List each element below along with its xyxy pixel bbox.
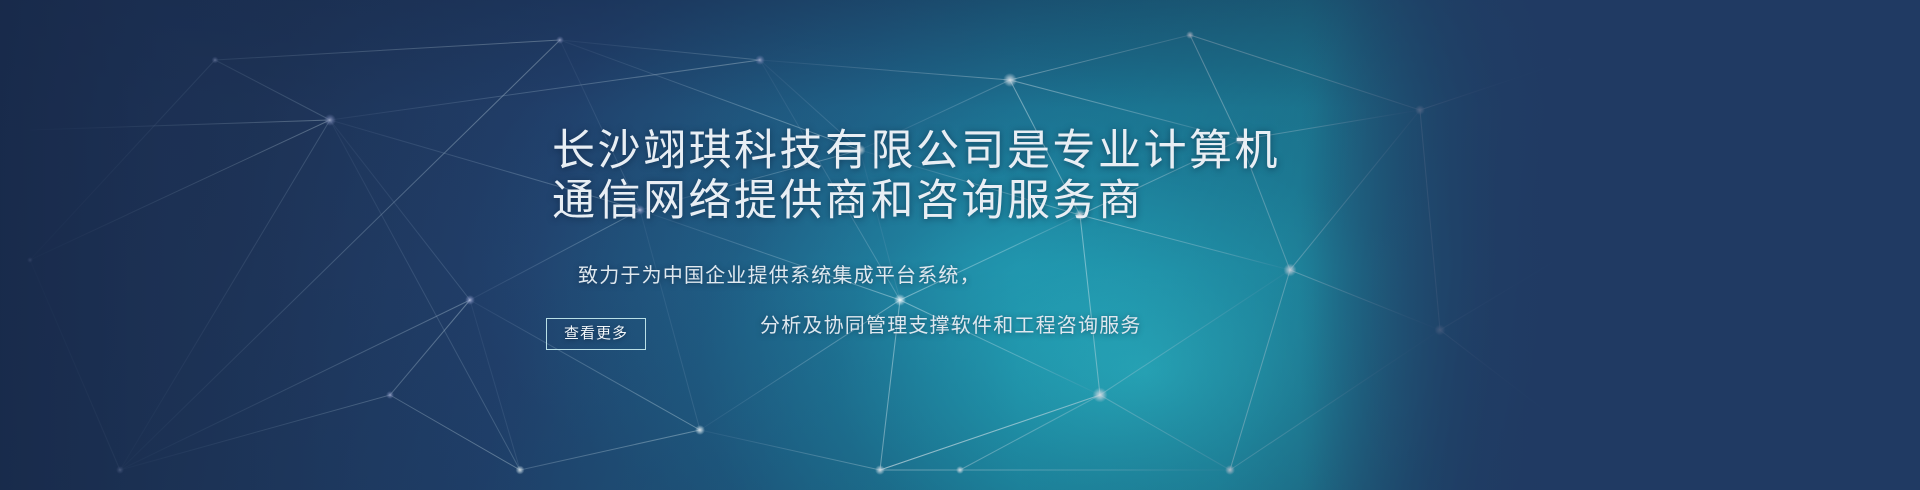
headline-line-1: 长沙翊琪科技有限公司是专业计算机 bbox=[552, 126, 1280, 176]
banner-subtitle-line-1: 致力于为中国企业提供系统集成平台系统， bbox=[578, 263, 981, 289]
banner-copy: 长沙翊琪科技有限公司是专业计算机 通信网络提供商和咨询服务商 致力于为中国企业提… bbox=[0, 0, 1920, 490]
banner-subtitle-line-2: 分析及协同管理支撑软件和工程咨询服务 bbox=[760, 313, 1142, 339]
banner-headline: 长沙翊琪科技有限公司是专业计算机 通信网络提供商和咨询服务商 bbox=[552, 126, 1280, 226]
view-more-button[interactable]: 查看更多 bbox=[546, 318, 646, 350]
hero-banner: 长沙翊琪科技有限公司是专业计算机 通信网络提供商和咨询服务商 致力于为中国企业提… bbox=[0, 0, 1920, 490]
headline-line-2: 通信网络提供商和咨询服务商 bbox=[552, 176, 1280, 226]
